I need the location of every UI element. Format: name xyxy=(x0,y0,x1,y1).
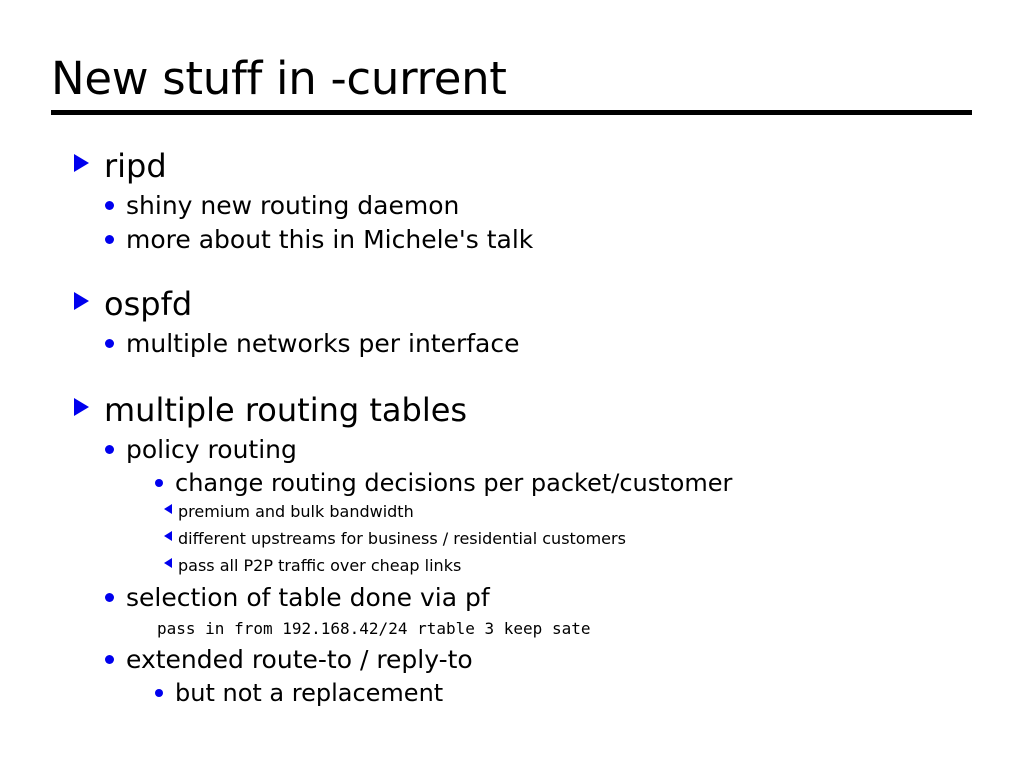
outline-heading-multiple-routing-tables: multiple routing tables xyxy=(74,390,1024,434)
triangle-left-icon xyxy=(164,499,178,518)
section-spacer xyxy=(0,258,1024,284)
outline-heading-ripd: ripd xyxy=(74,146,1024,190)
list-item-label: premium and bulk bandwidth xyxy=(178,501,414,523)
list-item-label: shiny new routing daemon xyxy=(126,190,459,222)
list-item-label: extended route-to / reply-to xyxy=(126,644,473,676)
triangle-right-icon xyxy=(74,292,104,314)
dot-bullet-icon xyxy=(155,682,175,701)
outline-heading-label: ripd xyxy=(104,146,167,186)
outline-body: ripd shiny new routing daemon more about… xyxy=(0,146,1024,711)
list-item: shiny new routing daemon xyxy=(105,190,1024,224)
dot-bullet-icon xyxy=(105,229,126,248)
list-item-label: policy routing xyxy=(126,434,297,466)
list-item-label: selection of table done via pf xyxy=(126,582,490,614)
triangle-right-icon xyxy=(74,398,104,420)
dot-bullet-icon xyxy=(105,587,126,606)
title-block: New stuff in -current xyxy=(51,52,972,115)
list-item: but not a replacement xyxy=(155,678,1024,711)
dot-bullet-icon xyxy=(105,439,126,458)
list-item-label: more about this in Michele's talk xyxy=(126,224,533,256)
dot-bullet-icon xyxy=(105,333,126,352)
dot-bullet-icon xyxy=(105,649,126,668)
triangle-right-icon xyxy=(74,154,104,176)
section-spacer xyxy=(0,362,1024,390)
list-item-label: change routing decisions per packet/cust… xyxy=(175,468,732,499)
list-item: pass all P2P traffic over cheap links xyxy=(164,555,1024,582)
pf-rule-code-line: pass in from 192.168.42/24 rtable 3 keep… xyxy=(157,616,1024,644)
outline-heading-label: multiple routing tables xyxy=(104,390,467,430)
dot-bullet-icon xyxy=(155,472,175,491)
list-item: policy routing xyxy=(105,434,1024,468)
outline-heading-ospfd: ospfd xyxy=(74,284,1024,328)
list-item-label: but not a replacement xyxy=(175,678,443,709)
list-item: more about this in Michele's talk xyxy=(105,224,1024,258)
outline-heading-label: ospfd xyxy=(104,284,192,324)
list-item-label: multiple networks per interface xyxy=(126,328,520,360)
list-item: selection of table done via pf xyxy=(105,582,1024,616)
list-item: premium and bulk bandwidth xyxy=(164,501,1024,528)
page-title: New stuff in -current xyxy=(51,52,972,106)
list-item: multiple networks per interface xyxy=(105,328,1024,362)
title-underline-rule xyxy=(51,110,972,115)
list-item: extended route-to / reply-to xyxy=(105,644,1024,678)
list-item-label: pass all P2P traffic over cheap links xyxy=(178,555,461,577)
dot-bullet-icon xyxy=(105,195,126,214)
triangle-left-icon xyxy=(164,553,178,572)
list-item: change routing decisions per packet/cust… xyxy=(155,468,1024,501)
list-item-label: different upstreams for business / resid… xyxy=(178,528,626,550)
list-item: different upstreams for business / resid… xyxy=(164,528,1024,555)
triangle-left-icon xyxy=(164,526,178,545)
slide: New stuff in -current ripd shiny new rou… xyxy=(0,0,1024,768)
